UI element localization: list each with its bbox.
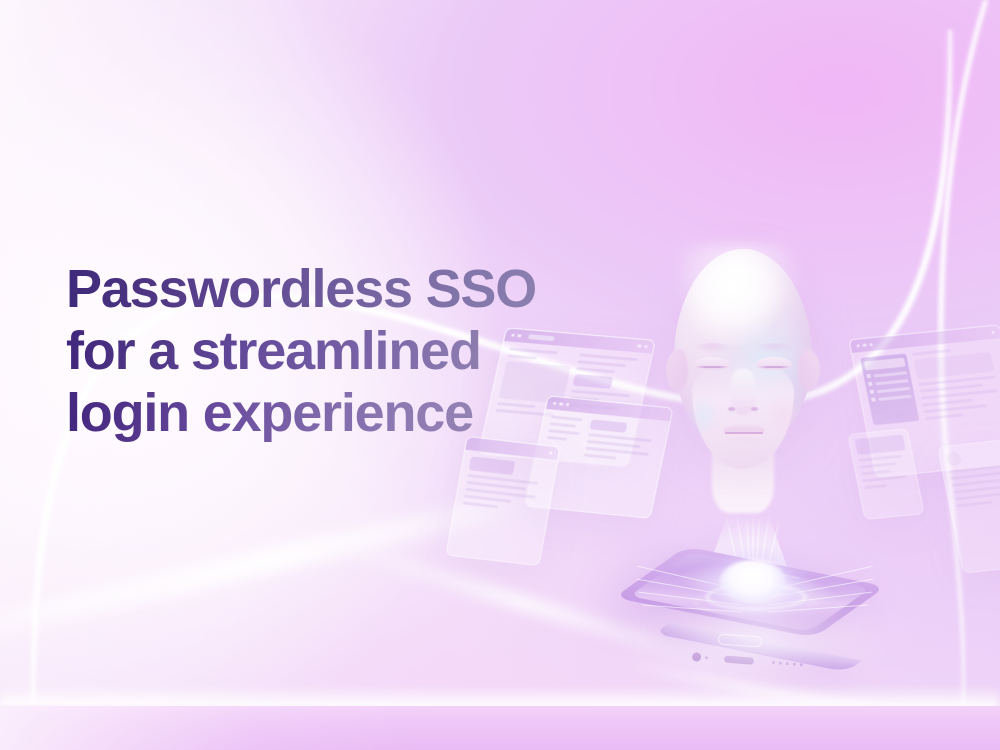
head-brow-left	[692, 343, 732, 353]
mockup-sidebar-nav	[860, 353, 919, 425]
sidebar-nav-item	[866, 370, 907, 378]
mockup-body	[849, 429, 919, 494]
nav-item-icon	[869, 390, 874, 394]
head-cheek-right	[766, 393, 800, 437]
window-dot-icon	[637, 344, 641, 348]
window-dot-icon	[566, 403, 570, 407]
nav-item-icon	[871, 397, 876, 401]
head-highlight	[678, 243, 808, 333]
head-lips	[724, 425, 764, 441]
headline-line-3: login experience	[66, 382, 536, 444]
headline-line-1: Passwordless SSO	[66, 258, 536, 320]
head-brow-right	[754, 343, 794, 353]
head-nostril-left	[728, 407, 735, 411]
floor-left-fade	[0, 704, 420, 750]
sidebar-nav-item	[871, 394, 912, 402]
3d-human-head	[648, 243, 838, 543]
window-dot-icon	[991, 331, 995, 335]
sidebar-nav-item	[869, 386, 910, 394]
hero-banner: Passwordless SSO for a streamlined login…	[0, 0, 1000, 750]
sidebar-selected-item	[864, 358, 906, 371]
head-cheek-left	[686, 393, 720, 437]
head-nostril-right	[751, 407, 758, 411]
phone-glow-reflection	[620, 604, 890, 694]
head-ear-left	[666, 349, 688, 391]
page-title: Passwordless SSO for a streamlined login…	[66, 258, 536, 444]
head-eye-left-closed	[694, 357, 730, 370]
window-dot-icon	[869, 343, 873, 347]
mockup-far-panel-right	[937, 436, 1000, 573]
head-eye-right-closed	[756, 357, 792, 370]
mockup-body	[852, 338, 1000, 432]
window-dot-icon	[553, 401, 557, 405]
window-dot-icon	[559, 402, 563, 406]
nav-item-icon	[866, 374, 871, 378]
nav-item-icon	[868, 382, 873, 386]
scan-orb-core	[720, 560, 786, 602]
headline-line-2: for a streamlined	[66, 320, 536, 382]
mockup-body	[455, 450, 558, 520]
window-dot-icon	[549, 451, 553, 455]
mockup-panel-card-left	[445, 436, 560, 566]
mockup-body	[938, 438, 1000, 514]
sidebar-nav-item	[868, 378, 909, 386]
window-dot-icon	[856, 344, 860, 348]
head-ear-right	[798, 349, 820, 391]
window-dot-icon	[863, 343, 867, 347]
